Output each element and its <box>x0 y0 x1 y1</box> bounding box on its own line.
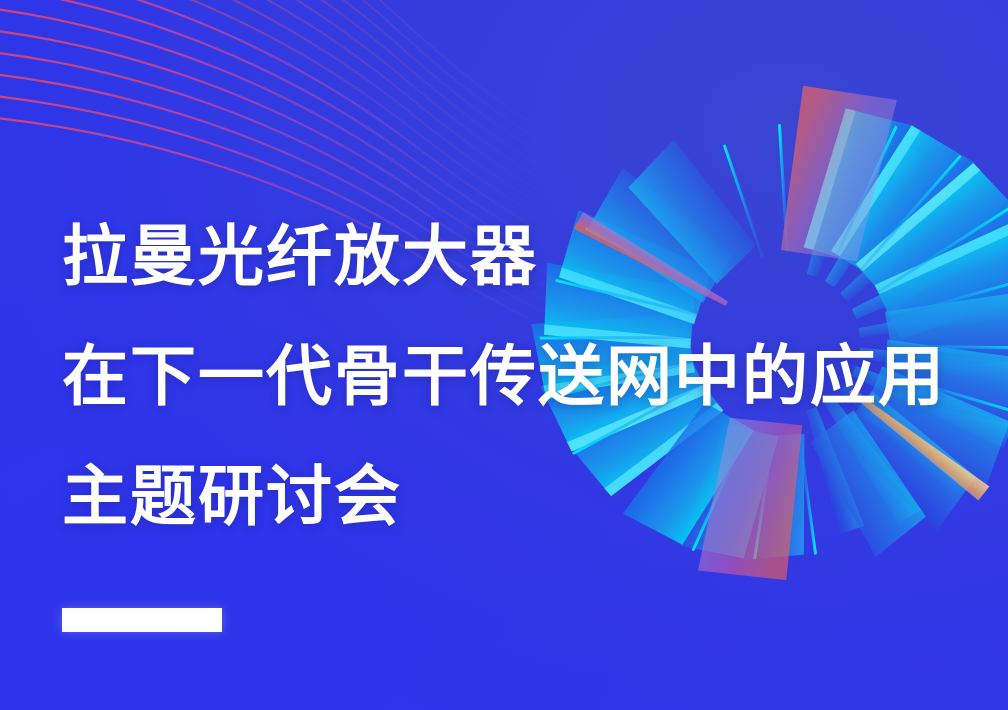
headline-line-2: 在下一代骨干传送网中的应用 <box>62 316 992 436</box>
headline-line-1: 拉曼光纤放大器 <box>62 196 992 316</box>
headline-line-3: 主题研讨会 <box>62 436 992 556</box>
headline-block: 拉曼光纤放大器 在下一代骨干传送网中的应用 主题研讨会 <box>62 196 992 556</box>
poster-canvas: 拉曼光纤放大器 在下一代骨干传送网中的应用 主题研讨会 <box>0 0 1008 710</box>
white-underline-rule <box>62 608 222 632</box>
